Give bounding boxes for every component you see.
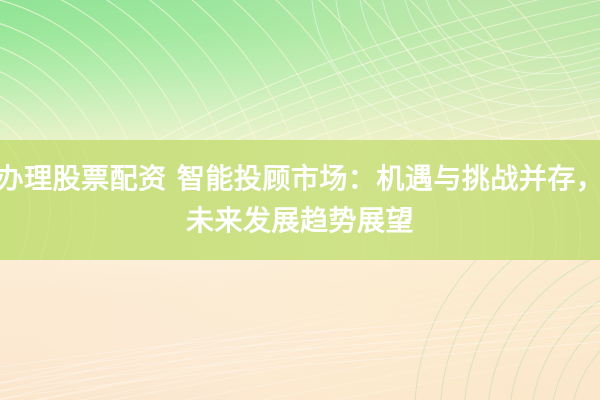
headline-line-1: 办理股票配资 智能投顾市场：机遇与挑战并存，: [0, 161, 600, 198]
headline-line-2: 未来发展趋势展望: [186, 203, 414, 240]
headline-block: 办理股票配资 智能投顾市场：机遇与挑战并存， 未来发展趋势展望: [0, 140, 600, 260]
banner-graphic: 办理股票配资 智能投顾市场：机遇与挑战并存， 未来发展趋势展望: [0, 0, 600, 400]
